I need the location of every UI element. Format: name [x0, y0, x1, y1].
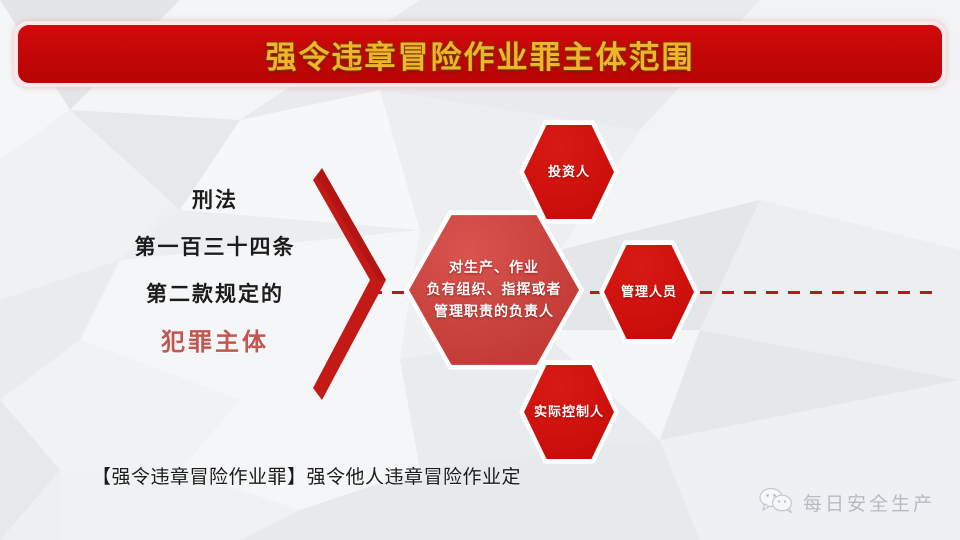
title-banner: 强令违章冒险作业罪主体范围	[14, 21, 946, 87]
left-text-block: 刑法 第一百三十四条 第二款规定的 犯罪主体	[90, 190, 340, 355]
left-line-1: 刑法	[90, 190, 340, 211]
center-line-2: 负有组织、指挥或者	[427, 279, 562, 301]
page-title: 强令违章冒险作业罪主体范围	[266, 32, 695, 77]
left-line-3: 第二款规定的	[90, 284, 340, 305]
hexagon-node-label: 投资人	[548, 162, 590, 182]
bottom-caption: 【强令违章冒险作业罪】强令他人违章冒险作业定	[92, 462, 521, 489]
wechat-icon	[759, 487, 793, 518]
hexagon-node-label: 管理人员	[621, 282, 677, 302]
hexagon-center-label: 对生产、作业 负有组织、指挥或者 管理职责的负责人	[427, 257, 562, 322]
left-line-2: 第一百三十四条	[90, 237, 340, 258]
center-line-1: 对生产、作业	[427, 257, 562, 279]
hexagon-node-label: 实际控制人	[534, 402, 604, 422]
slide-canvas: 强令违章冒险作业罪主体范围 刑法 第一百三十四条 第二款规定的 犯罪主体 投资人…	[0, 0, 960, 540]
watermark: 每日安全生产	[759, 487, 935, 518]
center-line-3: 管理职责的负责人	[427, 301, 562, 323]
watermark-text: 每日安全生产	[803, 489, 935, 516]
title-banner-fill: 强令违章冒险作业罪主体范围	[18, 25, 942, 83]
left-line-emphasis: 犯罪主体	[90, 331, 340, 355]
